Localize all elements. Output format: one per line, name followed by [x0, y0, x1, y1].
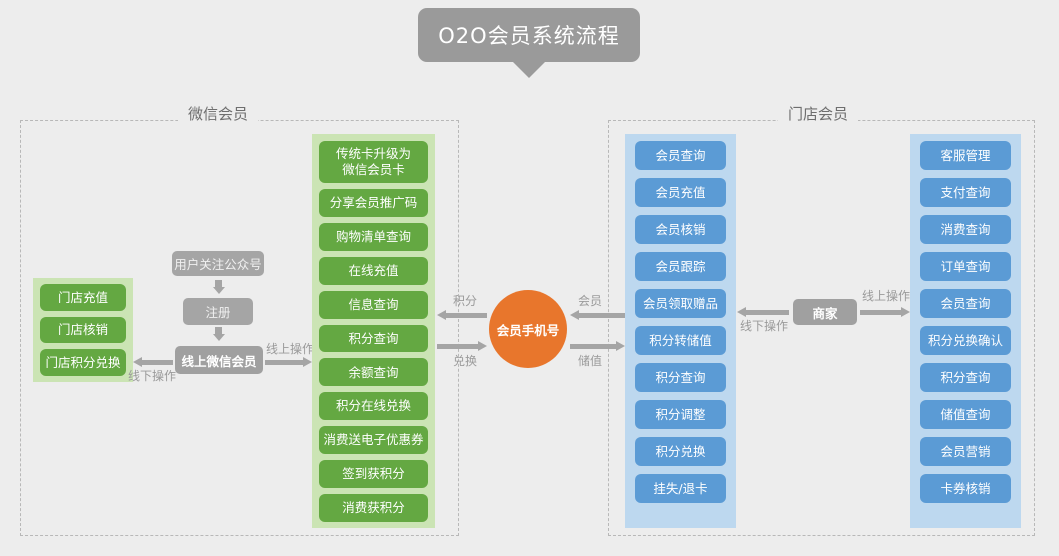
- store-operation-item[interactable]: 挂失/退卡: [635, 474, 726, 503]
- backoffice-operation-item[interactable]: 会员查询: [920, 289, 1011, 318]
- backoffice-operation-item[interactable]: 积分查询: [920, 363, 1011, 392]
- arrow-label-merchant-online: 线上操作: [862, 287, 910, 304]
- wechat-feature-item[interactable]: 购物清单查询: [319, 223, 428, 251]
- store-operation-item[interactable]: 会员充值: [635, 178, 726, 207]
- store-operation-item[interactable]: 会员查询: [635, 141, 726, 170]
- arrow-member-to-hub: [570, 310, 625, 321]
- backoffice-operation-item[interactable]: 消费查询: [920, 215, 1011, 244]
- backoffice-operation-item[interactable]: 支付查询: [920, 178, 1011, 207]
- wechat-feature-item[interactable]: 签到获积分: [319, 460, 428, 488]
- step-follow-official-account[interactable]: 用户关注公众号: [172, 251, 264, 276]
- wechat-feature-item[interactable]: 在线充值: [319, 257, 428, 285]
- diagram-title-banner: O2O会员系统流程: [418, 8, 640, 62]
- store-offline-item[interactable]: 门店核销: [40, 317, 126, 344]
- title-pointer-icon: [512, 61, 546, 78]
- wechat-feature-item[interactable]: 传统卡升级为 微信会员卡: [319, 141, 428, 183]
- step-register[interactable]: 注册: [183, 298, 253, 325]
- arrow-label-merchant-offline: 线下操作: [740, 317, 788, 334]
- wechat-feature-item[interactable]: 消费获积分: [319, 494, 428, 522]
- store-operation-item[interactable]: 积分转储值: [635, 326, 726, 355]
- wechat-feature-item[interactable]: 积分在线兑换: [319, 392, 428, 420]
- store-offline-item[interactable]: 门店积分兑换: [40, 349, 126, 376]
- wechat-feature-item[interactable]: 积分查询: [319, 325, 428, 353]
- arrow-merchant-online: [860, 307, 910, 318]
- backoffice-operation-item[interactable]: 储值查询: [920, 400, 1011, 429]
- section-label-wechat-member: 微信会员: [178, 103, 258, 124]
- arrow-online-to-features: [265, 357, 312, 368]
- store-offline-item[interactable]: 门店充值: [40, 284, 126, 311]
- arrow-label-points: 积分: [453, 292, 477, 309]
- arrow-down-register-to-online: [212, 327, 225, 341]
- store-operation-item[interactable]: 会员核销: [635, 215, 726, 244]
- wechat-feature-item[interactable]: 分享会员推广码: [319, 189, 428, 217]
- store-operation-item[interactable]: 积分兑换: [635, 437, 726, 466]
- store-operation-item[interactable]: 积分调整: [635, 400, 726, 429]
- hub-member-phone-number: 会员手机号: [489, 290, 567, 368]
- wechat-feature-item[interactable]: 信息查询: [319, 291, 428, 319]
- backoffice-operation-item[interactable]: 会员营销: [920, 437, 1011, 466]
- section-label-store-member: 门店会员: [778, 103, 858, 124]
- group-store-offline: 门店充值门店核销门店积分兑换: [33, 278, 133, 382]
- backoffice-operation-item[interactable]: 客服管理: [920, 141, 1011, 170]
- group-store-operations: 会员查询会员充值会员核销会员跟踪会员领取赠品积分转储值积分查询积分调整积分兑换挂…: [625, 134, 736, 528]
- arrow-label-offline-left: 线下操作: [128, 367, 176, 384]
- group-backoffice-operations: 客服管理支付查询消费查询订单查询会员查询积分兑换确认积分查询储值查询会员营销卡券…: [910, 134, 1021, 528]
- arrow-label-online-right: 线上操作: [266, 340, 314, 357]
- arrow-stored-value-from-hub: [570, 341, 625, 352]
- node-merchant[interactable]: 商家: [793, 299, 857, 325]
- arrow-points-to-wechat: [437, 310, 487, 321]
- arrow-label-redeem: 兑换: [453, 352, 477, 369]
- arrow-label-stored-value: 储值: [578, 352, 602, 369]
- step-online-wechat-member[interactable]: 线上微信会员: [175, 346, 263, 374]
- store-operation-item[interactable]: 会员跟踪: [635, 252, 726, 281]
- page-title: O2O会员系统流程: [438, 20, 619, 50]
- backoffice-operation-item[interactable]: 卡券核销: [920, 474, 1011, 503]
- diagram-canvas: O2O会员系统流程 微信会员 门店会员 门店充值门店核销门店积分兑换 用户关注公…: [0, 0, 1059, 556]
- backoffice-operation-item[interactable]: 积分兑换确认: [920, 326, 1011, 355]
- arrow-label-member: 会员: [578, 292, 602, 309]
- wechat-feature-item[interactable]: 余额查询: [319, 358, 428, 386]
- arrow-down-follow-to-register: [212, 280, 225, 294]
- group-wechat-features: 传统卡升级为 微信会员卡分享会员推广码购物清单查询在线充值信息查询积分查询余额查…: [312, 134, 435, 528]
- backoffice-operation-item[interactable]: 订单查询: [920, 252, 1011, 281]
- wechat-feature-item[interactable]: 消费送电子优惠券: [319, 426, 428, 454]
- store-operation-item[interactable]: 会员领取赠品: [635, 289, 726, 318]
- store-operation-item[interactable]: 积分查询: [635, 363, 726, 392]
- arrow-redeem-to-hub: [437, 341, 487, 352]
